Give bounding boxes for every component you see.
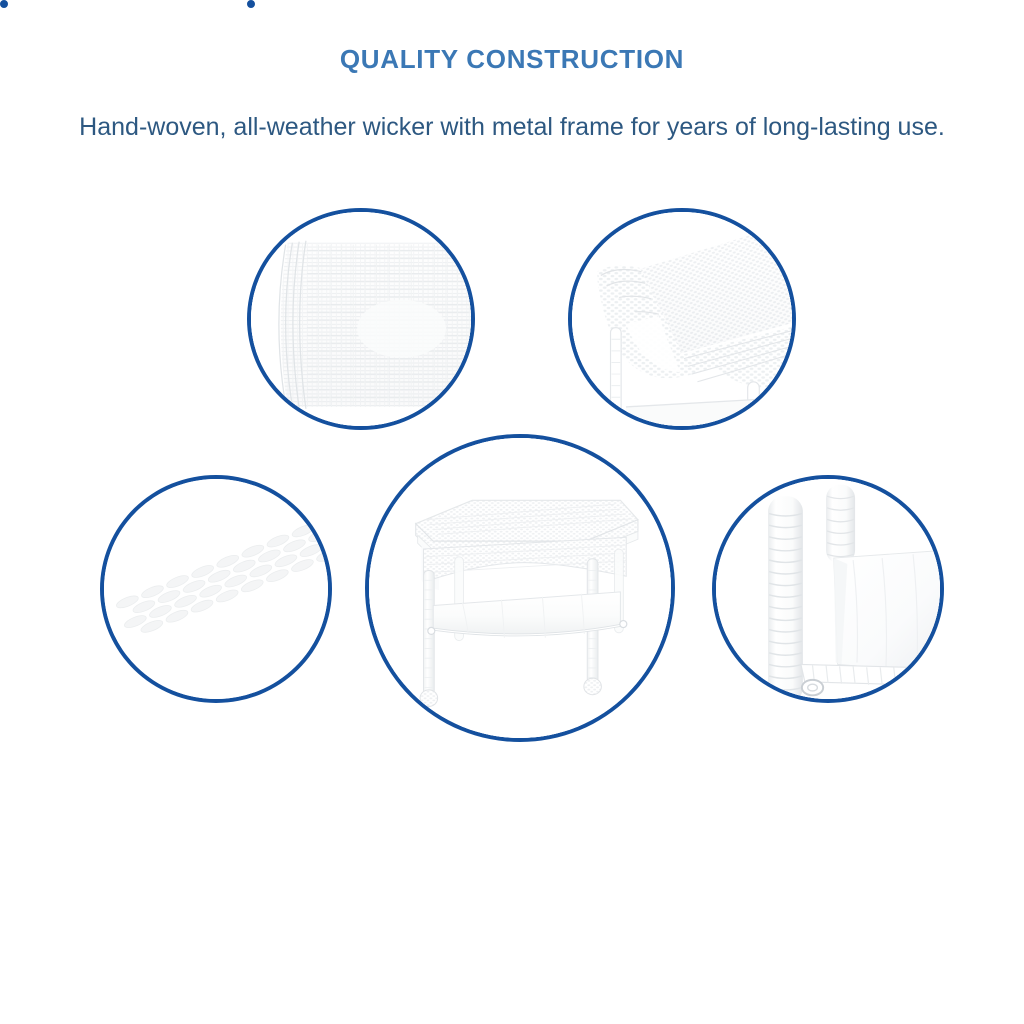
bubble-legs-and-feet — [247, 0, 255, 8]
photo-leg-and-shelf-attachment — [712, 475, 944, 703]
rear-leg — [826, 485, 855, 564]
full-table-illustration — [365, 434, 675, 742]
photo-legs-and-feet — [247, 0, 255, 8]
photo-table-corner-apron — [568, 208, 796, 430]
bubble-macro-weave-texture — [0, 0, 8, 8]
legs-and-feet-illustration — [247, 0, 255, 8]
feature-bubble-cluster — [0, 0, 1024, 1024]
vignette — [247, 0, 255, 8]
bubble-table-top-weave — [247, 208, 475, 430]
table-corner-apron-illustration — [568, 208, 796, 430]
leg-far-left — [248, 1, 249, 4]
bottom-rail — [801, 664, 944, 685]
photo-macro-weave-texture — [0, 0, 8, 8]
leg-and-shelf-illustration — [712, 475, 944, 703]
photo-diagonal-weave-texture — [100, 475, 332, 703]
photo-table-top-weave — [247, 208, 475, 430]
macro-weave-illustration — [0, 0, 8, 8]
leg-near-center — [251, 0, 252, 7]
diagonal-weave-overlay — [100, 475, 332, 703]
table-top-weave-illustration — [247, 208, 475, 430]
front-leg — [768, 496, 803, 703]
shelf-clip — [802, 680, 823, 695]
bubble-full-table — [365, 434, 675, 742]
photo-full-table — [365, 434, 675, 742]
quality-construction-infographic: QUALITY CONSTRUCTION Hand-woven, all-wea… — [0, 0, 1024, 1024]
bubble-leg-and-shelf-attachment — [712, 475, 944, 703]
bubble-table-corner-apron — [568, 208, 796, 430]
bubble-diagonal-weave-texture — [100, 475, 332, 703]
